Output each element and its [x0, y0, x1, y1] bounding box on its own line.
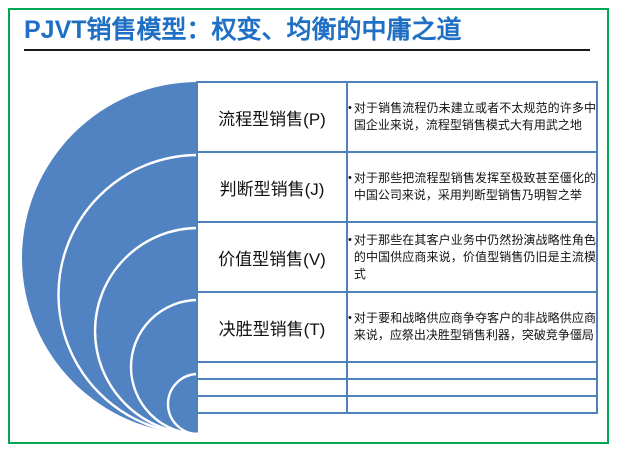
bullet-item: • 对于那些把流程型销售发挥至极致甚至僵化的中国公司来说，采用判断型销售乃明智之…	[348, 170, 596, 204]
row-label: 价值型销售(V)	[218, 250, 326, 269]
row-label-cell[interactable]: 决胜型销售(T)	[197, 292, 347, 362]
table-row[interactable]: 决胜型销售(T) • 对于要和战略供应商争夺客户的非战略供应商来说，应祭出决胜型…	[197, 292, 597, 362]
row-description-cell[interactable]: • 对于要和战略供应商争夺客户的非战略供应商来说，应祭出决胜型销售利器，突破竞争…	[347, 292, 597, 362]
table-body: 流程型销售(P) • 对于销售流程仍未建立或者不太规范的许多中国企业来说，流程型…	[197, 82, 597, 413]
row-label-cell[interactable]: 流程型销售(P)	[197, 82, 347, 152]
row-description-cell[interactable]: • 对于销售流程仍未建立或者不太规范的许多中国企业来说，流程型销售模式大有用武之…	[347, 82, 597, 152]
table-row-empty[interactable]	[197, 362, 597, 379]
table-row[interactable]: 判断型销售(J) • 对于那些把流程型销售发挥至极致甚至僵化的中国公司来说，采用…	[197, 152, 597, 222]
row-label: 决胜型销售(T)	[219, 320, 326, 339]
row-description: 对于要和战略供应商争夺客户的非战略供应商来说，应祭出决胜型销售利器，突破竞争僵局	[354, 310, 596, 344]
row-description-cell[interactable]	[347, 379, 597, 396]
row-description-cell[interactable]: • 对于那些在其客户业务中仍然扮演战略性角色的中国供应商来说，价值型销售仍旧是主…	[347, 222, 597, 292]
row-description: 对于销售流程仍未建立或者不太规范的许多中国企业来说，流程型销售模式大有用武之地	[354, 100, 596, 134]
row-label-cell[interactable]	[197, 379, 347, 396]
row-label-cell[interactable]: 判断型销售(J)	[197, 152, 347, 222]
row-description: 对于那些把流程型销售发挥至极致甚至僵化的中国公司来说，采用判断型销售乃明智之举	[354, 170, 596, 204]
row-description-cell[interactable]	[347, 362, 597, 379]
bullet-item: • 对于那些在其客户业务中仍然扮演战略性角色的中国供应商来说，价值型销售仍旧是主…	[348, 232, 596, 283]
table-row[interactable]: 价值型销售(V) • 对于那些在其客户业务中仍然扮演战略性角色的中国供应商来说，…	[197, 222, 597, 292]
table-row-empty[interactable]	[197, 396, 597, 413]
table-row-empty[interactable]	[197, 379, 597, 396]
row-label-cell[interactable]: 价值型销售(V)	[197, 222, 347, 292]
row-description-cell[interactable]	[347, 396, 597, 413]
row-description-cell[interactable]: • 对于那些把流程型销售发挥至极致甚至僵化的中国公司来说，采用判断型销售乃明智之…	[347, 152, 597, 222]
slide-canvas: PJVT销售模型：权变、均衡的中庸之道 流程型销售(P) • 对于销售流程仍未建…	[0, 0, 619, 455]
row-description: 对于那些在其客户业务中仍然扮演战略性角色的中国供应商来说，价值型销售仍旧是主流模…	[354, 232, 596, 283]
row-label: 判断型销售(J)	[220, 180, 325, 199]
row-label-cell[interactable]	[197, 362, 347, 379]
arc-outer-shape	[22, 82, 198, 434]
sales-model-table: 流程型销售(P) • 对于销售流程仍未建立或者不太规范的许多中国企业来说，流程型…	[196, 81, 598, 414]
table-row[interactable]: 流程型销售(P) • 对于销售流程仍未建立或者不太规范的许多中国企业来说，流程型…	[197, 82, 597, 152]
row-label-cell[interactable]	[197, 396, 347, 413]
bullet-item: • 对于销售流程仍未建立或者不太规范的许多中国企业来说，流程型销售模式大有用武之…	[348, 100, 596, 134]
bullet-item: • 对于要和战略供应商争夺客户的非战略供应商来说，应祭出决胜型销售利器，突破竞争…	[348, 310, 596, 344]
row-label: 流程型销售(P)	[218, 110, 326, 129]
